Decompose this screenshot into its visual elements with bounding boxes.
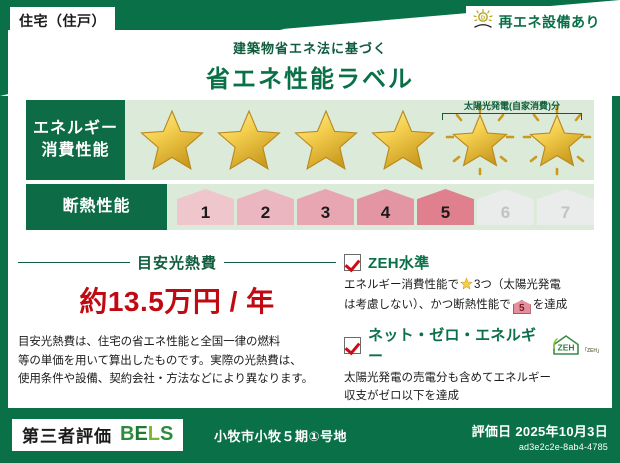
energy-performance-label: 住宅（住戸） D 再エネ設備あり 建築物省エネ法に基づく 省エネ — [0, 0, 620, 463]
star-2 — [212, 103, 286, 177]
solar-note-text: 太陽光発電(自家消費)分 — [436, 99, 588, 112]
insulation-performance-row: 断熱性能 1 2 3 — [26, 184, 594, 230]
svg-text:D: D — [480, 15, 484, 21]
insulation-key-label: 断熱性能 — [62, 196, 130, 218]
insulation-scale-panel: 1 2 3 4 5 — [167, 184, 594, 230]
title-subtitle: 建築物省エネ法に基づく — [0, 38, 620, 57]
renewable-badge-label: 再エネ設備あり — [499, 12, 601, 32]
grade-3-label: 3 — [321, 203, 330, 223]
utility-cost-value: 約13.5万円 / 年 — [18, 280, 336, 320]
svg-text:ZEH: ZEH — [557, 343, 574, 353]
net-zero-body-line-2: 収支がゼロ以下を達成 — [344, 387, 602, 405]
grade-1: 1 — [177, 189, 234, 225]
grade-1-label: 1 — [201, 203, 210, 223]
star-1 — [135, 103, 209, 177]
net-zero-energy-title: ネット・ゼロ・エネルギー — [368, 324, 541, 366]
evaluation-id: ad3e2c2e-8ab4-4785 — [472, 442, 608, 452]
grade-7-label: 7 — [561, 203, 570, 223]
cost-note-line-1: 目安光熱費は、住宅の省エネ性能と全国一律の燃料 — [18, 333, 336, 352]
grade-7: 7 — [537, 189, 594, 225]
bels-logo: BELS — [120, 423, 173, 446]
building-type-badge: 住宅（住戸） — [10, 7, 115, 36]
zeh-standard-title: ZEH水準 — [368, 252, 430, 273]
grade-6: 6 — [477, 189, 534, 225]
insulation-grade-scale: 1 2 3 4 5 — [167, 189, 594, 225]
heading-rule-right — [224, 262, 336, 264]
zeh-standard-text-c: は考慮しない）、かつ断熱性能で — [344, 299, 511, 311]
net-zero-energy-body: 太陽光発電の売電分も含めてエネルギー 収支がゼロ以下を達成 — [344, 369, 602, 405]
cost-note-line-2: 等の単価を用いて算出したものです。実際の光熱費は、 — [18, 352, 336, 371]
renewable-equipment-badge: D 再エネ設備あり — [466, 6, 611, 38]
utility-cost-section: 目安光熱費 約13.5万円 / 年 目安光熱費は、住宅の省エネ性能と全国一律の燃… — [18, 252, 336, 389]
energy-performance-row: エネルギー 消費性能 — [26, 100, 594, 180]
grade-5: 5 — [417, 189, 474, 225]
bels-certification-box: 第三者評価 BELS — [12, 419, 183, 451]
checkbox-checked-icon — [344, 254, 361, 271]
performance-block: エネルギー 消費性能 — [26, 100, 594, 234]
grade-3: 3 — [297, 189, 354, 225]
grade-2: 2 — [237, 189, 294, 225]
solar-bracket — [442, 113, 582, 120]
zeh-house-logo-icon: ZEH 「ZEH」 — [551, 334, 602, 356]
cost-note-line-3: 使用条件や設備、契約会社・方法などにより異なります。 — [18, 370, 336, 389]
net-zero-energy-header: ネット・ゼロ・エネルギー ZEH 「ZEH」 — [344, 324, 602, 366]
zeh-standard-body: エネルギー消費性能で3つ（太陽光発電 は考慮しない）、かつ断熱性能で5を達成 — [344, 276, 602, 314]
insulation-performance-label-key: 断熱性能 — [26, 184, 167, 230]
title-main: 省エネ性能ラベル — [0, 59, 620, 94]
grade-4-label: 4 — [381, 203, 390, 223]
star-4 — [366, 103, 440, 177]
checkbox-checked-icon-2 — [344, 337, 361, 354]
sun-icon: D — [472, 9, 494, 34]
zeh-standard-header: ZEH水準 — [344, 252, 602, 273]
solar-generation-annotation: 太陽光発電(自家消費)分 — [436, 99, 588, 120]
utility-cost-heading-label: 目安光熱費 — [137, 252, 217, 273]
grade-5-label: 5 — [441, 203, 450, 223]
bels-label-text: 第三者評価 — [22, 422, 112, 447]
mini-grade-badge: 5 — [513, 300, 531, 314]
zeh-standard-text-b: 3つ（太陽光発電 — [474, 279, 561, 291]
zeh-standard-text-a: エネルギー消費性能で — [344, 279, 459, 291]
net-zero-energy-item: ネット・ゼロ・エネルギー ZEH 「ZEH」 太陽光発電の売電分も含めてエネルギ… — [344, 324, 602, 405]
utility-cost-note: 目安光熱費は、住宅の省エネ性能と全国一律の燃料 等の単価を用いて算出したものです… — [18, 333, 336, 389]
zeh-standard-item: ZEH水準 エネルギー消費性能で3つ（太陽光発電 は考慮しない）、かつ断熱性能で… — [344, 252, 602, 314]
label-footer: 第三者評価 BELS 小牧市小牧５期①号地 評価日 2025年10月3日 ad3… — [0, 411, 620, 463]
zeh-logo-subtext: 「ZEH」 — [582, 347, 602, 356]
energy-key-line1: エネルギー — [33, 118, 118, 140]
mini-star-icon — [460, 277, 473, 296]
property-address: 小牧市小牧５期①号地 — [214, 426, 347, 445]
heading-rule-left — [18, 262, 130, 264]
label-title: 建築物省エネ法に基づく 省エネ性能ラベル — [0, 38, 620, 94]
net-zero-body-line-1: 太陽光発電の売電分も含めてエネルギー — [344, 369, 602, 387]
energy-performance-label-key: エネルギー 消費性能 — [26, 100, 125, 180]
grade-6-label: 6 — [501, 203, 510, 223]
zeh-standard-text-d: を達成 — [533, 299, 568, 311]
grade-2-label: 2 — [261, 203, 270, 223]
utility-cost-heading: 目安光熱費 — [18, 252, 336, 273]
evaluation-date: 評価日 2025年10月3日 — [472, 421, 608, 440]
grade-4: 4 — [357, 189, 414, 225]
zeh-criteria-section: ZEH水準 エネルギー消費性能で3つ（太陽光発電 は考慮しない）、かつ断熱性能で… — [344, 252, 602, 416]
energy-key-line2: 消費性能 — [41, 140, 109, 162]
star-3 — [289, 103, 363, 177]
evaluation-info: 評価日 2025年10月3日 ad3e2c2e-8ab4-4785 — [472, 421, 608, 452]
